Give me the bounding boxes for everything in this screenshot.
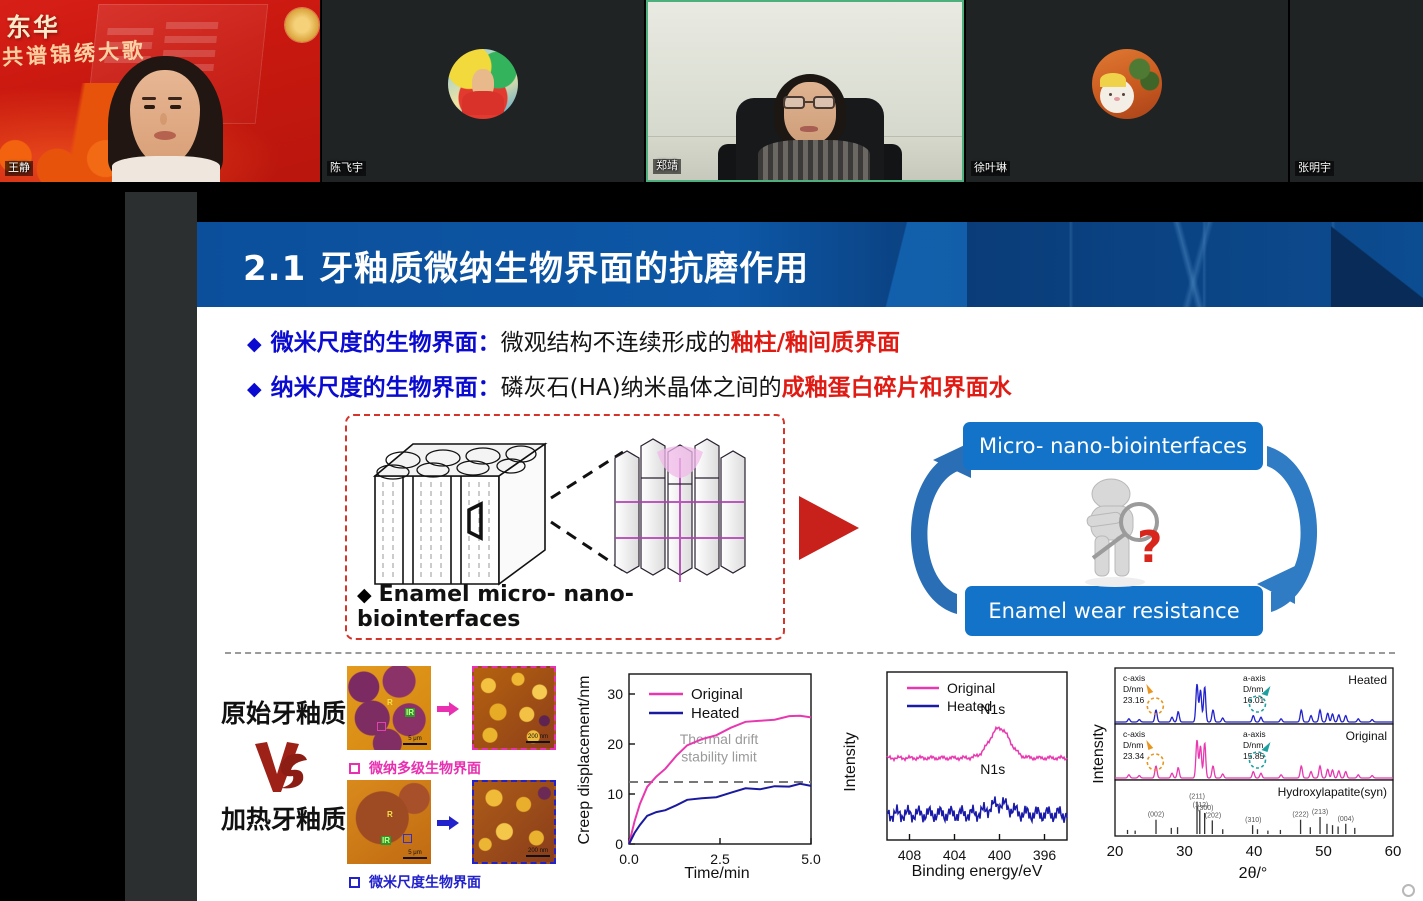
svg-text:a-axis: a-axis	[1243, 673, 1266, 683]
vs-icon	[253, 740, 311, 794]
bullet-2-red: 成釉蛋白碎片和界面水	[782, 373, 1012, 403]
svg-text:20: 20	[1107, 843, 1124, 860]
svg-text:408: 408	[898, 847, 922, 863]
participant-tile-4[interactable]: 徐叶琳	[966, 0, 1288, 182]
diamond-icon: ◆	[357, 584, 372, 606]
svg-text:(222): (222)	[1292, 812, 1308, 819]
bullet-1-red: 釉柱/釉间质界面	[731, 328, 900, 358]
svg-text:396: 396	[1033, 847, 1057, 863]
participant-name-4: 徐叶琳	[971, 161, 1010, 176]
svg-text:stability limit: stability limit	[681, 749, 757, 765]
svg-text:D/nm: D/nm	[1123, 684, 1143, 694]
square-marker-icon	[349, 763, 360, 774]
caption-nano-text: 微纳多级生物界面	[369, 758, 481, 778]
enamel-cube-diagram	[369, 432, 565, 592]
scalebar-5um: 5 μm	[403, 736, 427, 745]
participant-video-strip: 东华 共谱锦绣大歌 王静 陈飞宇 郑靖 徐叶琳	[0, 0, 1423, 184]
svg-text:2θ/°: 2θ/°	[1239, 865, 1268, 882]
svg-text:a-axis: a-axis	[1243, 729, 1266, 739]
svg-text:0.0: 0.0	[619, 851, 639, 867]
svg-text:Heated: Heated	[691, 705, 739, 722]
participant-name-2: 陈飞宇	[327, 161, 366, 176]
arrow-blue-icon	[437, 816, 459, 830]
bullet-list: ◆ 微米尺度的生物界面： 微观结构不连续形成的 釉柱/釉间质界面 ◆ 纳米尺度的…	[247, 328, 1377, 418]
scalebar-200nm: 200 nm	[526, 848, 550, 857]
presenter-portrait	[108, 56, 223, 182]
svg-text:Intensity: Intensity	[1093, 724, 1107, 784]
square-marker-icon	[349, 877, 360, 888]
schematic-figure-row: ◆Enamel micro- nano-biointerfaces Micro-…	[197, 414, 1423, 650]
svg-text:400: 400	[988, 847, 1012, 863]
afm-image-original-micro: R IR 5 μm	[347, 666, 431, 750]
svg-text:c-axis: c-axis	[1123, 729, 1145, 739]
svg-text:N1s: N1s	[980, 761, 1005, 777]
afm-comparison-panel: 原始牙釉质 加热牙釉质 R IR 5 μm 200 nm	[217, 662, 562, 901]
participant-tile-2[interactable]: 陈飞宇	[322, 0, 644, 182]
svg-text:Original: Original	[691, 686, 743, 703]
svg-text:(213): (213)	[1312, 809, 1328, 816]
svg-text:(002): (002)	[1148, 812, 1164, 819]
participant-tile-1[interactable]: 东华 共谱锦绣大歌 王静	[0, 0, 320, 182]
svg-text:D/nm: D/nm	[1243, 740, 1263, 750]
bullet-2-black: 磷灰石(HA)纳米晶体之间的	[501, 373, 782, 403]
svg-text:D/nm: D/nm	[1123, 740, 1143, 750]
slide-header-band: 2.1 牙釉质微纳生物界面的抗磨作用	[197, 222, 1423, 307]
speaker-portrait	[766, 60, 862, 180]
enamel-schematic-box: ◆Enamel micro- nano-biointerfaces	[345, 414, 785, 640]
participant-tile-3-active-speaker[interactable]: 郑靖	[646, 0, 964, 182]
svg-text:20: 20	[607, 736, 623, 752]
svg-text:30: 30	[607, 686, 623, 702]
cycle-box-top: Micro- nano-biointerfaces	[963, 422, 1263, 470]
caption-nano-interface: 微纳多级生物界面	[349, 758, 481, 778]
svg-text:40: 40	[1246, 843, 1263, 860]
results-panel-row: 原始牙釉质 加热牙釉质 R IR 5 μm 200 nm	[197, 662, 1423, 901]
diamond-bullet-icon: ◆	[247, 329, 262, 359]
svg-text:60: 60	[1385, 843, 1402, 860]
svg-text:c-axis: c-axis	[1123, 673, 1145, 683]
xrd-pattern-chart: (002)(211)(112)(300)(202)(310)(222)(213)…	[1093, 662, 1411, 901]
bullet-1-blue: 微米尺度的生物界面：	[271, 328, 501, 358]
arrow-magenta-icon	[437, 702, 459, 716]
svg-text:Creep displacement/nm: Creep displacement/nm	[576, 676, 593, 845]
xps-spectra-chart: 408404400396N1sN1sOriginalHeatedBinding …	[835, 662, 1085, 901]
red-arrow-icon	[797, 492, 861, 564]
slide-title: 2.1 牙釉质微纳生物界面的抗磨作用	[243, 241, 809, 290]
afm-image-heated-nano: 200 nm	[472, 780, 556, 864]
cursor-indicator	[1402, 884, 1415, 897]
label-heated-enamel: 加热牙釉质	[221, 800, 346, 836]
nanocrystal-bundle-diagram	[605, 430, 755, 590]
svg-text:(004): (004)	[1338, 816, 1354, 823]
afm-image-heated-micro: R IR 5 μm	[347, 780, 431, 864]
question-mark: ?	[1137, 522, 1163, 573]
shared-slide-content: 2.1 牙釉质微纳生物界面的抗磨作用 ◆ 微米尺度的生物界面： 微观结构不连续形…	[197, 222, 1423, 901]
header-wedge	[847, 222, 967, 307]
svg-text:(310): (310)	[1245, 817, 1261, 824]
svg-text:23.16: 23.16	[1123, 695, 1145, 705]
bullet-2-blue: 纳米尺度的生物界面：	[271, 373, 501, 403]
svg-text:Heated: Heated	[947, 698, 992, 714]
collapsed-sidebar-panel[interactable]	[125, 192, 197, 901]
svg-text:(300): (300)	[1197, 805, 1213, 812]
svg-text:30: 30	[1176, 843, 1193, 860]
svg-text:Heated: Heated	[1348, 673, 1387, 687]
svg-text:404: 404	[943, 847, 967, 863]
svg-text:50: 50	[1315, 843, 1332, 860]
svg-text:Original: Original	[947, 680, 995, 696]
creep-displacement-chart: 01020300.02.55.0Thermal driftstability l…	[567, 662, 823, 901]
participant-tile-5[interactable]: 张明宇	[1290, 0, 1423, 182]
svg-text:Time/min: Time/min	[684, 865, 749, 882]
svg-text:0: 0	[615, 836, 623, 852]
cycle-box-bottom: Enamel wear resistance	[965, 586, 1263, 636]
bullet-1-black: 微观结构不连续形成的	[501, 328, 731, 358]
header-corner-accent	[1331, 222, 1423, 307]
participant-name-1: 王静	[5, 161, 33, 176]
svg-text:Hydroxylapatite(syn): Hydroxylapatite(syn)	[1278, 785, 1387, 799]
scalebar-200nm: 200 nm	[526, 734, 550, 743]
enamel-caption-text: Enamel micro- nano-biointerfaces	[357, 582, 634, 632]
enamel-caption: ◆Enamel micro- nano-biointerfaces	[357, 582, 777, 632]
svg-text:Original: Original	[1346, 729, 1387, 743]
university-seal-icon	[285, 8, 319, 42]
svg-text:23.34: 23.34	[1123, 751, 1145, 761]
bullet-item-1: ◆ 微米尺度的生物界面： 微观结构不连续形成的 釉柱/釉间质界面	[247, 328, 1377, 359]
svg-text:(202): (202)	[1205, 812, 1221, 819]
svg-text:10: 10	[607, 786, 623, 802]
diamond-bullet-icon: ◆	[247, 374, 262, 404]
label-original-enamel: 原始牙釉质	[221, 694, 346, 730]
scalebar-5um: 5 μm	[403, 850, 427, 859]
svg-text:5.0: 5.0	[801, 851, 821, 867]
svg-text:Binding energy/eV: Binding energy/eV	[912, 863, 1043, 880]
svg-text:Intensity: Intensity	[842, 732, 859, 792]
avatar	[1092, 49, 1162, 119]
participant-name-3: 郑靖	[653, 159, 681, 174]
avatar	[448, 49, 518, 119]
bullet-item-2: ◆ 纳米尺度的生物界面： 磷灰石(HA)纳米晶体之间的 成釉蛋白碎片和界面水	[247, 373, 1377, 404]
svg-text:D/nm: D/nm	[1243, 684, 1263, 694]
afm-image-original-nano: 200 nm	[472, 666, 556, 750]
cycle-diagram: Micro- nano-biointerfaces Enamel wear re…	[869, 416, 1369, 644]
caption-micro-interface: 微米尺度生物界面	[349, 872, 481, 892]
section-divider	[225, 652, 1395, 654]
participant-name-5: 张明宇	[1295, 161, 1334, 176]
caption-micro-text: 微米尺度生物界面	[369, 872, 481, 892]
svg-text:(211): (211)	[1189, 794, 1205, 801]
